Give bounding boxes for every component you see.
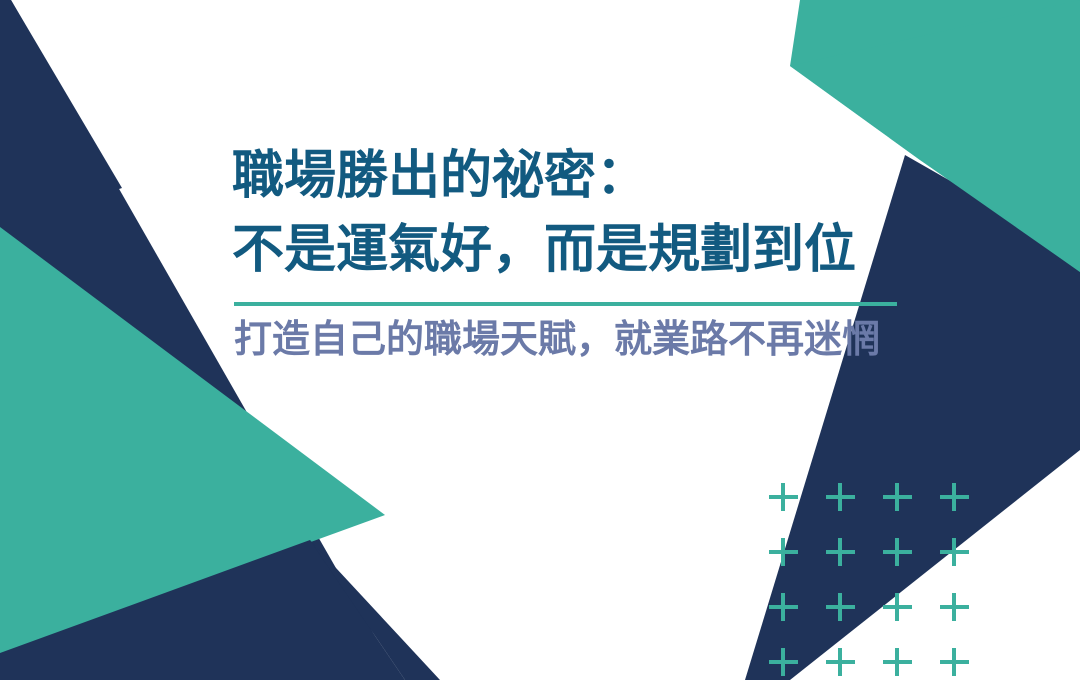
headline-line-2: 不是運氣好，而是規劃到位	[232, 214, 932, 288]
plus-icon	[929, 474, 986, 529]
plus-icon	[758, 584, 815, 639]
plus-icon	[929, 529, 986, 584]
plus-icon	[872, 584, 929, 639]
plus-icon	[929, 584, 986, 639]
plus-icon	[758, 529, 815, 584]
banner-canvas: 職場勝出的祕密： 不是運氣好，而是規劃到位 打造自己的職場天賦，就業路不再迷惘	[0, 0, 1080, 680]
subtitle-text: 打造自己的職場天賦，就業路不再迷惘	[232, 316, 932, 364]
teal-rule	[234, 302, 897, 306]
plus-icon	[815, 584, 872, 639]
plus-icon	[872, 639, 929, 680]
plus-icon	[758, 639, 815, 680]
plus-icon	[758, 474, 815, 529]
plus-grid-decoration	[758, 474, 998, 680]
plus-icon	[815, 529, 872, 584]
plus-icon	[815, 474, 872, 529]
headline-block: 職場勝出的祕密： 不是運氣好，而是規劃到位 打造自己的職場天賦，就業路不再迷惘	[232, 140, 932, 363]
plus-icon	[872, 529, 929, 584]
plus-icon	[815, 639, 872, 680]
headline-line-1: 職場勝出的祕密：	[232, 140, 932, 214]
plus-icon	[929, 639, 986, 680]
plus-icon	[872, 474, 929, 529]
